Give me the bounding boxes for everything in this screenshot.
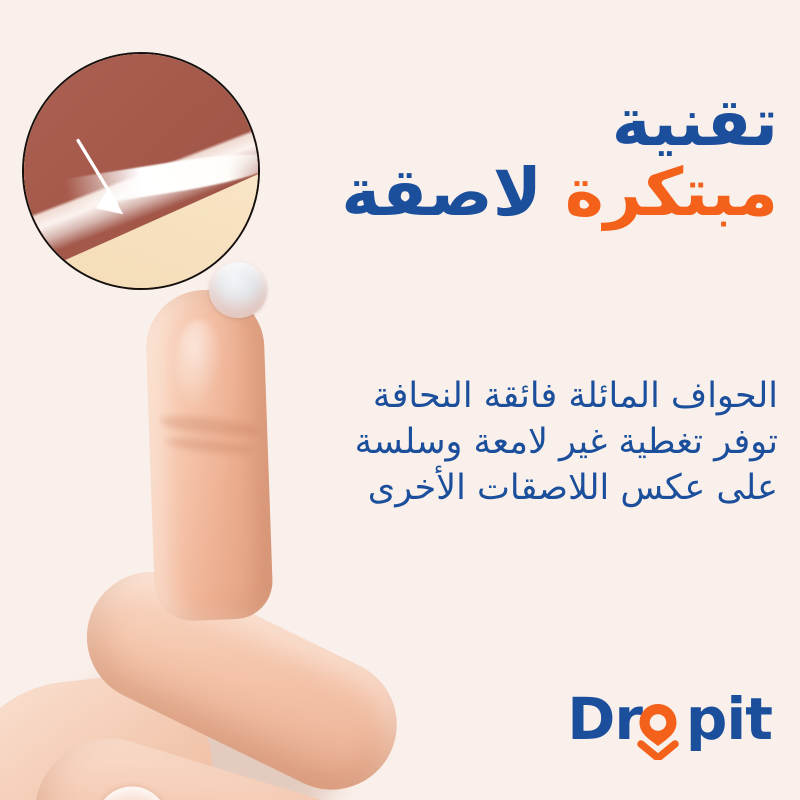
knuckle-crease [159, 413, 260, 439]
brand-logo[interactable]: Dropit [567, 690, 772, 748]
poster-canvas: تقنية مبتكرة لاصقة الحواف المائلة فائقة … [0, 0, 800, 800]
fingertip-highlight [176, 320, 222, 410]
brand-logo-wordmark: Dropit [567, 690, 772, 748]
hand-photo [0, 250, 420, 800]
headline-word-innovative: مبتكرة [565, 154, 778, 231]
palm-base [0, 667, 237, 800]
headline-word-patch: لاصقة [341, 154, 541, 231]
brand-logo-text-before: Dr [567, 685, 642, 753]
location-pin-drop-icon [636, 702, 680, 760]
hand-shadow [40, 670, 340, 800]
body-line-3: على عكس اللاصقات الأخرى [248, 465, 778, 511]
headline-line-2: مبتكرة لاصقة [218, 158, 778, 228]
headline-line-1: تقنية [218, 88, 778, 158]
brand-logo-text-after: pit [686, 685, 772, 753]
body-line-1: الحواف المائلة فائقة النحافة [248, 373, 778, 419]
folded-finger-upper [65, 550, 419, 800]
body-copy: الحواف المائلة فائقة النحافة توفر تغطية … [248, 373, 778, 512]
body-line-2: توفر تغطية غير لامعة وسلسة [248, 419, 778, 465]
knuckle-crease [166, 435, 255, 456]
thumb-nail [80, 779, 175, 800]
page-title: تقنية مبتكرة لاصقة [218, 88, 778, 228]
folded-finger-middle-lower [16, 720, 462, 800]
